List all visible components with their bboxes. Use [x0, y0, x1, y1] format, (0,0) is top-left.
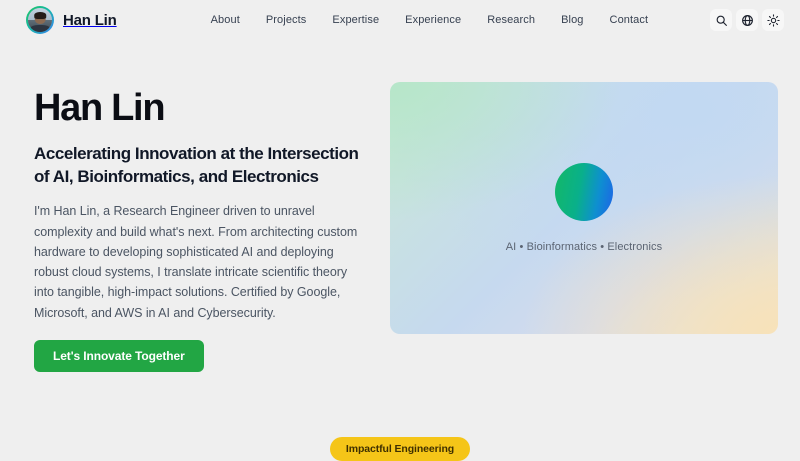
nav-item-expertise[interactable]: Expertise	[332, 14, 379, 26]
hero-section: Han Lin Accelerating Innovation at the I…	[0, 40, 800, 372]
avatar-photo-icon	[28, 8, 52, 32]
hero-visual-card: AI • Bioinformatics • Electronics	[390, 82, 778, 334]
innovate-together-button[interactable]: Let's Innovate Together	[34, 340, 204, 372]
sun-icon	[767, 14, 780, 27]
nav-item-about[interactable]: About	[211, 14, 240, 26]
language-button[interactable]	[736, 9, 758, 31]
gradient-orb-icon	[555, 163, 613, 221]
nav-item-projects[interactable]: Projects	[266, 14, 307, 26]
search-button[interactable]	[710, 9, 732, 31]
main-navigation: About Projects Expertise Experience Rese…	[211, 14, 649, 26]
bottom-badge-row: Impactful Engineering	[0, 437, 800, 461]
nav-item-research[interactable]: Research	[487, 14, 535, 26]
hero-text-column: Han Lin Accelerating Innovation at the I…	[34, 82, 370, 372]
header-actions	[710, 9, 784, 31]
nav-item-experience[interactable]: Experience	[405, 14, 461, 26]
brand-name: Han Lin	[63, 12, 117, 29]
globe-icon	[741, 14, 754, 27]
nav-item-blog[interactable]: Blog	[561, 14, 583, 26]
nav-item-contact[interactable]: Contact	[610, 14, 649, 26]
theme-toggle-button[interactable]	[762, 9, 784, 31]
avatar	[26, 6, 54, 34]
hero-card-caption: AI • Bioinformatics • Electronics	[506, 241, 663, 253]
search-icon	[715, 14, 728, 27]
hero-subtitle: Accelerating Innovation at the Intersect…	[34, 143, 370, 188]
impactful-engineering-badge: Impactful Engineering	[330, 437, 470, 461]
page-title: Han Lin	[34, 88, 370, 129]
site-header: Han Lin About Projects Expertise Experie…	[0, 0, 800, 40]
brand-logo-link[interactable]: Han Lin	[26, 6, 117, 34]
hero-body-text: I'm Han Lin, a Research Engineer driven …	[34, 201, 370, 323]
